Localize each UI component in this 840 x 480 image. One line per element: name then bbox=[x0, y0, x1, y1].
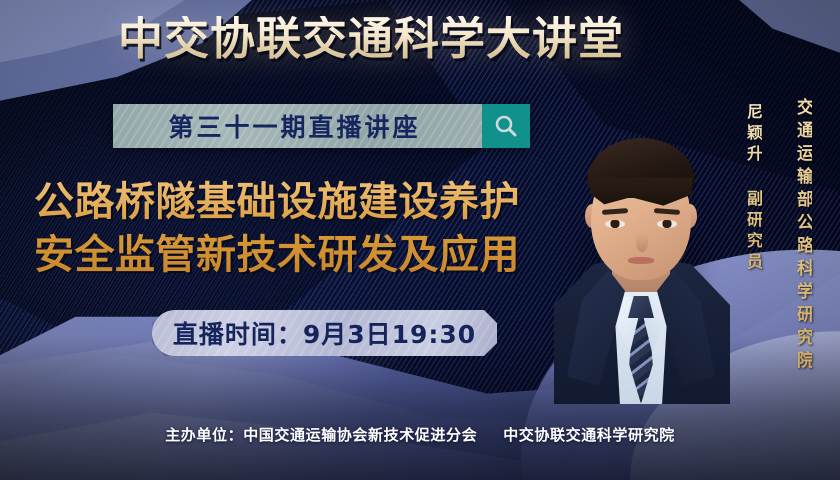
portrait-nose bbox=[636, 234, 648, 252]
lecture-title: 公路桥隧基础设施建设养护 安全监管新技术研发及应用 bbox=[34, 176, 520, 282]
lecture-title-line-1: 公路桥隧基础设施建设养护 bbox=[34, 176, 520, 229]
broadcast-time-badge: 直播时间：9月3日19:30 bbox=[152, 310, 497, 356]
portrait-eye-left bbox=[605, 220, 625, 228]
lecture-title-line-2: 安全监管新技术研发及应用 bbox=[34, 229, 520, 282]
speaker-portrait bbox=[560, 74, 722, 404]
portrait-mouth bbox=[628, 257, 654, 264]
episode-label: 第三十一期直播讲座 bbox=[113, 104, 482, 148]
portrait-eye-right bbox=[657, 220, 677, 228]
broadcast-time-text: 直播时间：9月3日19:30 bbox=[173, 315, 476, 351]
search-button[interactable] bbox=[482, 104, 530, 148]
footer-organizer: 主办单位：中国交通运输协会新技术促进分会 bbox=[165, 424, 477, 445]
livestream-poster: 中交协联交通科学大讲堂 第三十一期直播讲座 公路桥隧基础设施建设养护 安全监管新… bbox=[0, 0, 840, 480]
search-icon bbox=[493, 113, 519, 139]
page-title: 中交协联交通科学大讲堂 bbox=[118, 16, 624, 61]
footer: 主办单位：中国交通运输协会新技术促进分会 中交协联交通科学研究院 bbox=[0, 424, 840, 445]
speaker-affiliation: 交通运输部公路科学研究院 bbox=[793, 98, 812, 374]
footer-institute: 中交协联交通科学研究院 bbox=[503, 424, 675, 445]
speaker-name-title: 尼颖升 副研究员 bbox=[744, 103, 762, 274]
episode-search-bar[interactable]: 第三十一期直播讲座 bbox=[113, 104, 530, 148]
